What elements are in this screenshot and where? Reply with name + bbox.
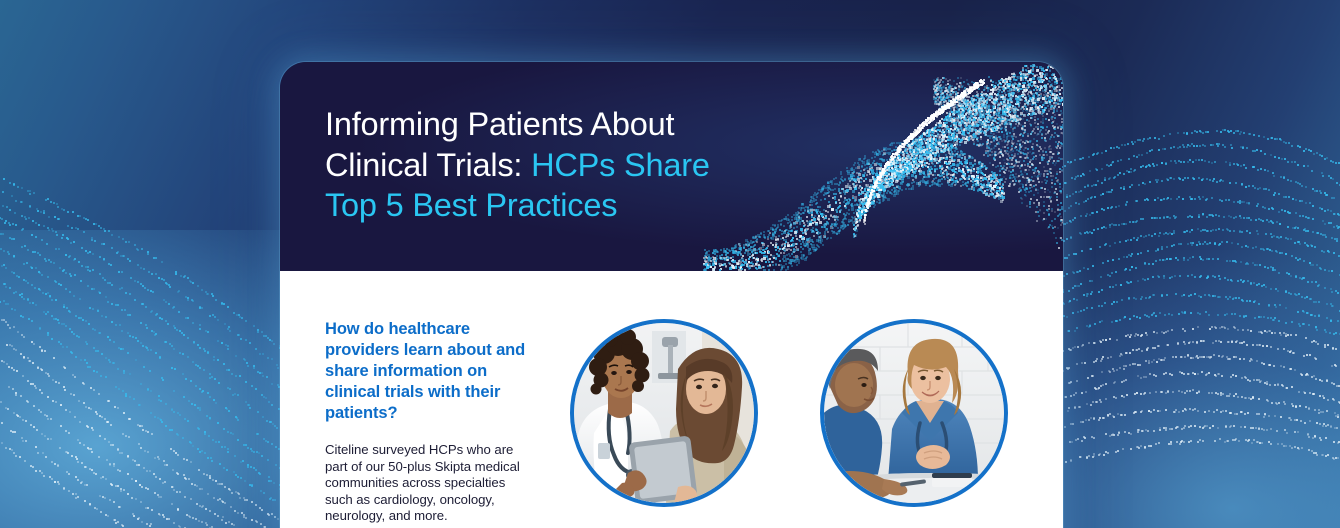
photo-1-illustration	[574, 323, 754, 503]
page-title: Informing Patients About Clinical Trials…	[325, 104, 710, 226]
photo-1-image	[574, 323, 754, 503]
lede-question: How do healthcare providers learn about …	[325, 319, 532, 424]
title-line-3: Top 5 Best Practices	[325, 185, 710, 226]
page-background: Informing Patients About Clinical Trials…	[0, 0, 1340, 528]
card-body: How do healthcare providers learn about …	[280, 271, 1063, 528]
card-header: Informing Patients About Clinical Trials…	[280, 62, 1063, 271]
photo-nurse-team-discussion	[820, 319, 1008, 507]
title-line-2-plain: Clinical Trials:	[325, 147, 531, 183]
photo-doctor-with-patient-tablet	[570, 319, 758, 507]
title-line-1: Informing Patients About	[325, 104, 710, 145]
particle-wave-right	[1040, 140, 1340, 528]
text-column: How do healthcare providers learn about …	[325, 317, 532, 525]
photo-group	[570, 317, 1008, 507]
particle-swoosh-decoration	[703, 62, 1063, 271]
title-line-1-plain: Informing Patients About	[325, 106, 674, 142]
body-paragraph: Citeline surveyed HCPs who are part of o…	[325, 442, 532, 525]
title-line-2: Clinical Trials: HCPs Share	[325, 145, 710, 186]
title-line-3-accent: Top 5 Best Practices	[325, 187, 617, 223]
photo-2-illustration	[824, 323, 1004, 503]
particle-wave-left	[0, 150, 300, 528]
title-line-2-accent: HCPs Share	[531, 147, 710, 183]
photo-2-image	[824, 323, 1004, 503]
content-card: Informing Patients About Clinical Trials…	[280, 62, 1063, 528]
